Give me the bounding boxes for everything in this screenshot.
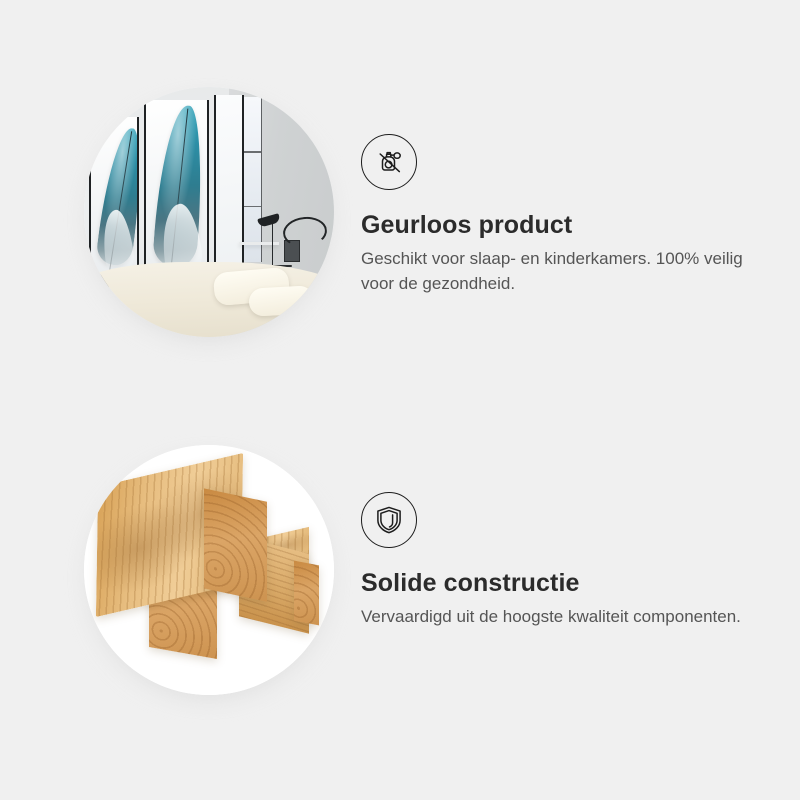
feature-title: Geurloos product [361, 210, 572, 240]
feature-description: Geschikt voor slaap- en kinderkamers. 10… [361, 246, 756, 296]
wooden-blocks-scene [84, 445, 334, 695]
wood-block-right-end-face [294, 560, 319, 625]
feature-list: Geurloos product Geschikt voor slaap- en… [0, 0, 800, 800]
feature-title: Solide constructie [361, 568, 580, 598]
feature-image-feather-canvas-bedroom-photo [84, 87, 334, 337]
canvas-panel-right [214, 95, 244, 280]
canvas-panel-left [89, 117, 139, 277]
lamp-arm [272, 217, 274, 272]
feature-image-wooden-blocks-photo [84, 445, 334, 695]
photo-circle-mask [84, 445, 334, 695]
bedroom-scene [84, 87, 334, 337]
shield-icon [361, 492, 417, 548]
feature-description: Vervaardigd uit de hoogste kwaliteit com… [361, 604, 756, 629]
feature-item-geurloos-product: Geurloos product Geschikt voor slaap- en… [0, 50, 800, 410]
photo-circle-mask [84, 87, 334, 337]
no-fragrance-icon [361, 134, 417, 190]
wood-block-large-end-face [204, 488, 267, 601]
canvas-panel-center [144, 100, 209, 280]
feature-item-solide-constructie: Solide constructie Vervaardigd uit de ho… [0, 408, 800, 768]
pillow [248, 285, 314, 316]
